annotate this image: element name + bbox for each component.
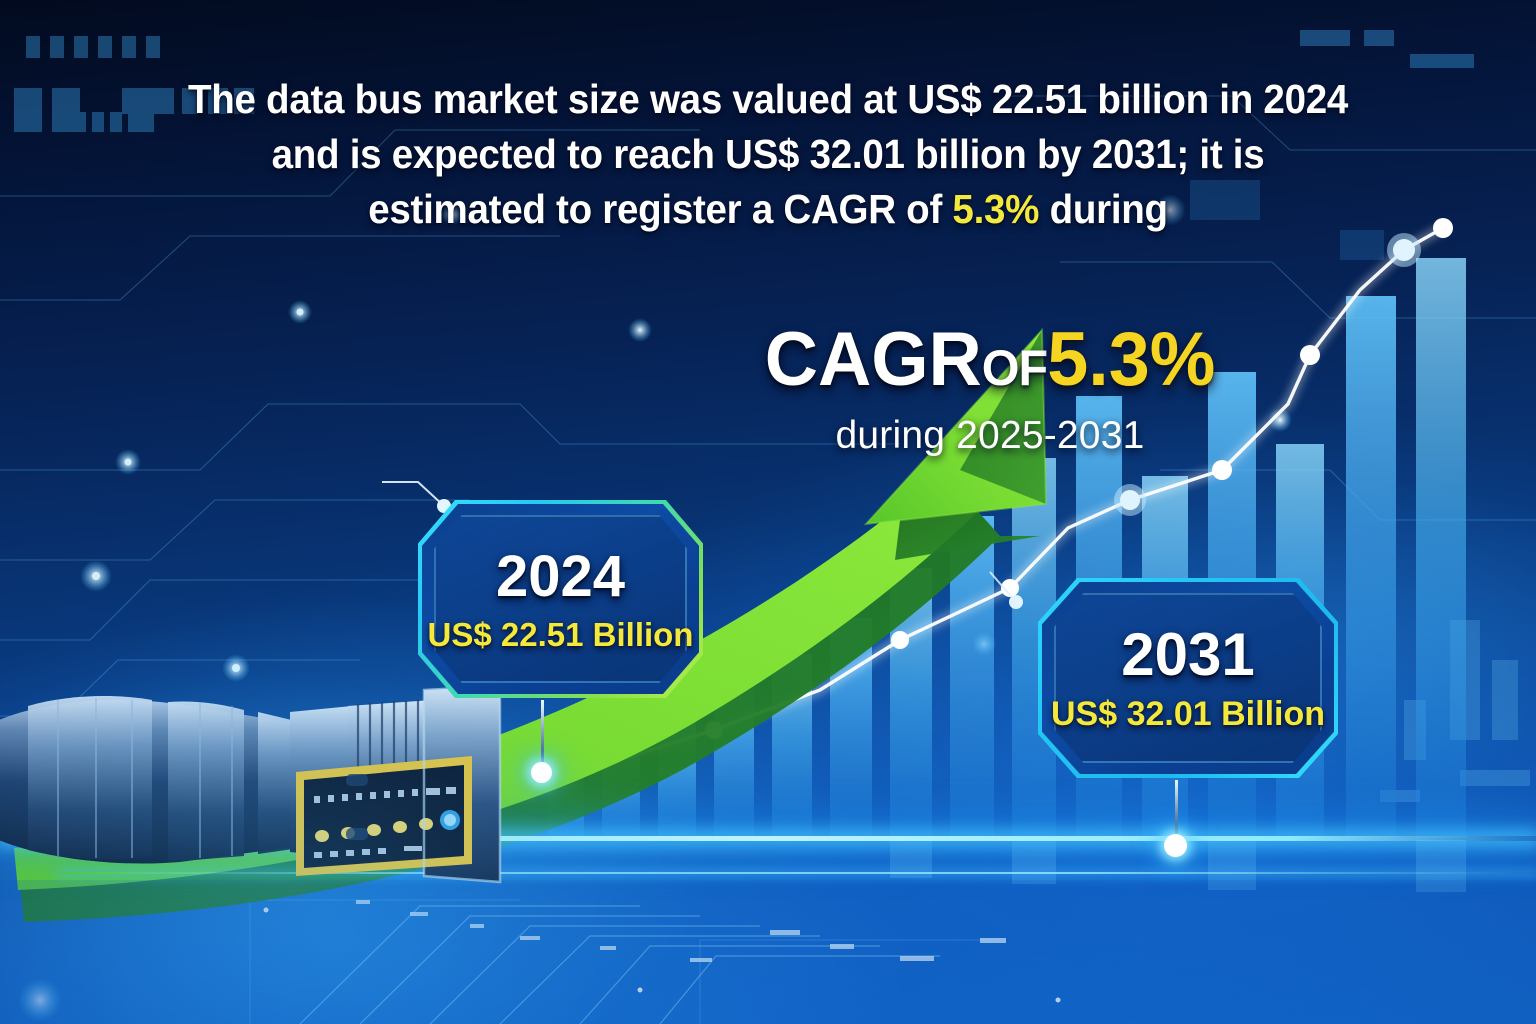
callout-2031-connector: [1175, 780, 1178, 842]
cagr-headline: CAGROF5.3%: [699, 322, 1281, 398]
headline: The data bus market size was valued at U…: [0, 72, 1536, 237]
headline-line-1: The data bus market size was valued at U…: [46, 72, 1490, 127]
cagr-period: during 2025-2031: [690, 414, 1290, 458]
callout-2031-value: US$ 32.01 Billion: [1051, 697, 1325, 731]
infographic-canvas: The data bus market size was valued at U…: [0, 0, 1536, 1024]
cagr-of: OF: [982, 340, 1047, 396]
callout-2024-year: 2024: [496, 548, 625, 606]
cagr-callout: CAGROF5.3% during 2025-2031: [690, 322, 1290, 458]
callout-2024: 2024 US$ 22.51 Billion: [418, 500, 703, 698]
headline-line-3: estimated to register a CAGR of 5.3% dur…: [46, 182, 1490, 237]
callout-2024-connector: [541, 700, 544, 772]
callout-2024-value: US$ 22.51 Billion: [428, 618, 694, 651]
callout-2031-base-dot: [1164, 834, 1187, 857]
cagr-label: CAGR: [765, 317, 982, 402]
chart-baseline-secondary: [60, 872, 1536, 874]
callout-2031: 2031 US$ 32.01 Billion: [1038, 578, 1338, 778]
callout-2031-year: 2031: [1121, 625, 1254, 685]
chart-baseline: [0, 836, 1536, 841]
cagr-value: 5.3%: [1047, 317, 1215, 402]
headline-line-2: and is expected to reach US$ 32.01 billi…: [46, 127, 1490, 182]
callout-2024-base-dot: [531, 762, 552, 783]
